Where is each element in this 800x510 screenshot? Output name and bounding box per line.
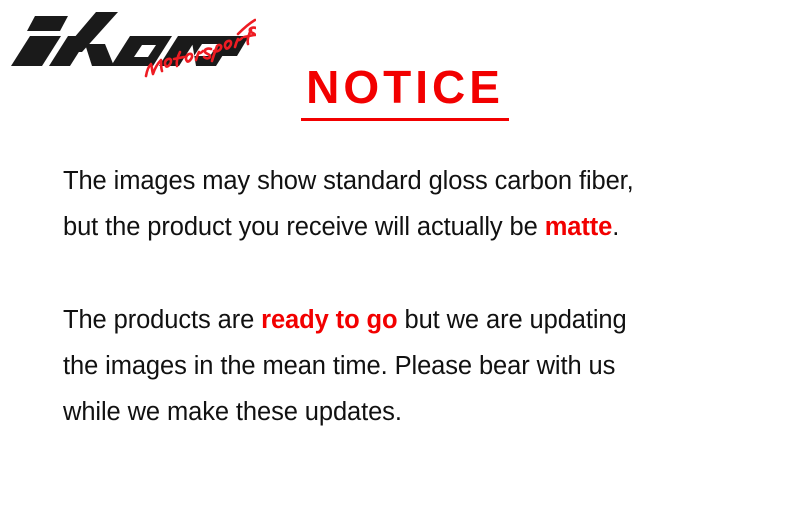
notice-body: The images may show standard gloss carbo… [63, 158, 763, 435]
highlight-ready-to-go: ready to go [261, 306, 397, 334]
notice-line: the images in the mean time. Please bear… [63, 352, 615, 380]
notice-paragraph-1: The images may show standard gloss carbo… [63, 158, 763, 250]
notice-line-text-end: . [612, 213, 619, 241]
ikon-motorsports-logo-icon [6, 4, 256, 86]
heading-underline [301, 118, 509, 121]
notice-page: NOTICE The images may show standard glos… [0, 0, 800, 510]
notice-line: The images may show standard gloss carbo… [63, 167, 634, 195]
highlight-matte: matte [545, 213, 613, 241]
notice-line: while we make these updates. [63, 398, 402, 426]
page-title: NOTICE [306, 62, 504, 112]
notice-line-text-end: but we are updating [398, 306, 627, 334]
notice-heading-block: NOTICE [240, 62, 570, 121]
notice-line-text: but the product you receive will actuall… [63, 213, 545, 241]
notice-line-text: The products are [63, 306, 261, 334]
notice-paragraph-2: The products are ready to go but we are … [63, 297, 763, 435]
brand-logo [6, 4, 256, 86]
